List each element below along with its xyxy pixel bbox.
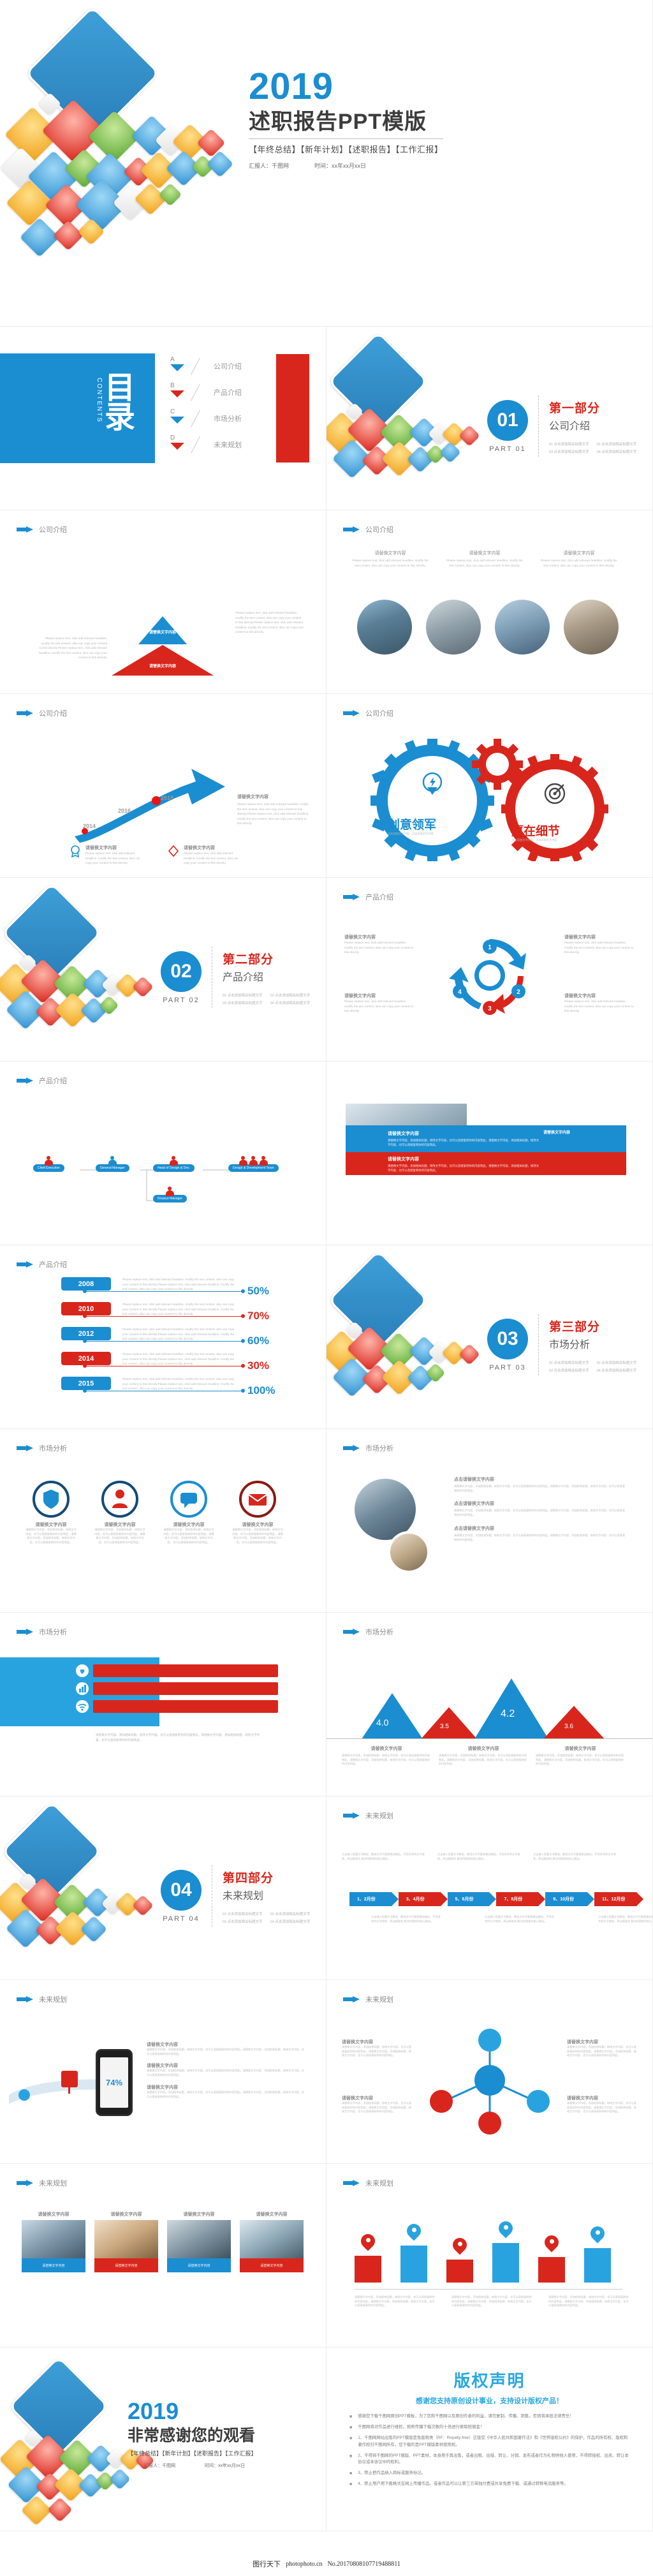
pin-row — [355, 2221, 611, 2283]
part-item: 03 点击添加相关标题文字 — [223, 1000, 263, 1005]
copyright-item: ■3、禁止把作品纳入商标或服务标记。 — [349, 2470, 629, 2477]
photo-thumbnail — [564, 600, 619, 655]
part-divider — [538, 396, 539, 457]
part-mosaic — [326, 343, 505, 496]
slide-part-03: 03 PART 03 第三部分 市场分析 01 点击添加相关标题文字 02 点击… — [326, 1245, 653, 1429]
watermark-site-cn: 图行天下 — [253, 2559, 281, 2569]
part-mosaic — [326, 1261, 505, 1414]
heart-circle-icon — [75, 1664, 89, 1678]
triangle-value: 3.6 — [564, 1723, 573, 1730]
photo-caption: 请替换文字内容 — [352, 550, 429, 556]
growth-note: 请替换文字内容 Please replace text, click add r… — [237, 794, 311, 826]
chat-ring-icon — [170, 1480, 208, 1518]
final-meta: 汇报人：千图网 时间：xx年xx月xx日 — [128, 2462, 319, 2469]
part-label: PART 02 — [163, 996, 199, 1004]
timeline-text: Please replace text, click add relevant … — [122, 1302, 237, 1317]
photo-row: 请替换文字内容 Please replace text, click add r… — [352, 550, 617, 568]
timeline-percent: 30% — [247, 1359, 269, 1372]
cover-title: 述职报告PPT模版 — [249, 104, 443, 135]
copyright-item: ■感谢您下载千图网原创PPT模板，为了您和千图网以及原创作者的利益，请勿复制、传… — [349, 2413, 629, 2420]
triangle-value: 4.0 — [376, 1717, 388, 1728]
item-body: 请替换文字内容，添加相关标题，修改文字内容，也可以直接复制你的内容到此。请替换文… — [454, 1509, 626, 1517]
month-arrow: 7、8月份 — [496, 1892, 538, 1906]
slide-copyright: 版权声明 感谢您支持原创设计事业，支持设计版权产品！ ■感谢您下载千图网原创PP… — [326, 2348, 653, 2531]
arrow-icon — [343, 1445, 360, 1452]
part-number: 01 — [487, 400, 528, 441]
timeline-row: 2008 Please replace text, click add rele… — [0, 1277, 326, 1302]
bullet-icon: ■ — [349, 2453, 352, 2466]
slide-photo-cards: 未来规划 请替换文字内容 请替换文字内容 请替换文字内容 请替换文字内容 请替换… — [0, 2164, 326, 2348]
cover-tagline: 【年终总结】【新年计划】【述职报告】【工作汇报】 — [249, 143, 443, 155]
ring-item[interactable]: 请替换文字内容 请替换文字内容，添加相关标题，修改文字内容，也可以直接复制你的内… — [232, 1480, 283, 1545]
slide-phone: 未来规划 74% 请替换文字内容 请替换文字内容，添加相关标题，修改文字内容，也… — [0, 1980, 326, 2164]
toc-slash-icon — [193, 358, 207, 374]
month-note: 点击输入您要文字解说，解说文字尽量是概括概括，不用多余的文字修饰，简洁精准的 解… — [371, 1915, 441, 1923]
cover-date: 时间：xx年xx月xx日 — [314, 161, 366, 170]
part-label: PART 01 — [489, 445, 525, 453]
person-icon — [166, 1187, 174, 1197]
photo-text: Please replace text, click add relevant … — [352, 558, 429, 568]
gear-left-sub: 点击添加文字内容，点击添加文字内容 — [380, 832, 441, 836]
photo-group — [355, 1479, 430, 1573]
bullet-icon: ■ — [349, 2481, 352, 2488]
part-header: 02 PART 02 第二部分 产品介绍 01 点击添加相关标题文字 02 点击… — [161, 947, 310, 1008]
cycle-note-body: Please replace text, click add relevant … — [564, 999, 635, 1014]
org-node: Design & Development Team — [228, 1156, 279, 1172]
toc-slash-icon — [193, 436, 207, 453]
part-item-list: 01 点击添加相关标题文字 02 点击添加相关标题文字 03 点击添加相关标题文… — [549, 1360, 636, 1373]
arrow-icon — [17, 1077, 33, 1084]
section-header-company: 公司介绍 — [17, 524, 67, 535]
toc-item[interactable]: B 产品介绍 — [169, 383, 242, 401]
slide-part-04: 04 PART 04 第四部分 未来规划 01 点击添加相关标题文字 02 点击… — [0, 1796, 326, 1980]
bullet-icon: ■ — [349, 2470, 352, 2477]
network-note: 请替换文字内容 请替换文字内容，添加相关标题，修改文字内容，也可以直接复制你的内… — [342, 2039, 412, 2058]
copyright-title: 版权声明 — [326, 2368, 652, 2392]
cycle-note-head: 请替换文字内容 — [344, 934, 415, 940]
watermark-site-en: photophoto.cn — [286, 2561, 323, 2568]
section-header-label: 公司介绍 — [365, 708, 393, 718]
section-header-future: 未来规划 — [17, 2178, 67, 2188]
chart-circle-icon — [75, 1682, 89, 1696]
growth-icon-label: 请替换文字内容 — [184, 845, 240, 851]
part-item: 04 点击添加相关标题文字 — [270, 1000, 311, 1005]
final-year: 2019 — [128, 2400, 319, 2423]
ring-label: 请替换文字内容 — [94, 1521, 145, 1528]
cover-meta: 汇报人：千图网 时间：xx年xx月xx日 — [249, 161, 443, 170]
month-arrow: 1、2月份 — [349, 1892, 392, 1906]
triangle-value: 4.2 — [501, 1708, 515, 1720]
slide-pin-chart: 未来规划 — [326, 2164, 653, 2348]
timeline-year: 2008 — [61, 1277, 111, 1291]
phone-notes: 请替换文字内容 请替换文字内容，添加相关标题，修改文字内容，也可以直接复制你的内… — [147, 2041, 306, 2099]
pin-item — [400, 2224, 427, 2283]
final-presenter: 汇报人：千图网 — [144, 2462, 175, 2469]
section-header-label: 市场分析 — [39, 1627, 67, 1637]
item-body: 请替换文字内容，添加相关标题，修改文字内容，也可以直接复制你的内容到此。请替换文… — [454, 1534, 626, 1542]
toc-list: A 公司介绍 B 产品介绍 C 市场分析 D 未来规划 — [169, 357, 242, 454]
month-arrow: 11、12月份 — [594, 1892, 636, 1906]
diamond-icon — [167, 845, 180, 857]
list-item: 请替换文字内容 请替换文字内容，添加相关标题，修改文字内容，也可以直接复制你的内… — [147, 2041, 306, 2056]
toc-item[interactable]: C 市场分析 — [169, 410, 242, 427]
part-number: 04 — [161, 1870, 202, 1911]
pin-item — [538, 2235, 565, 2283]
ring-text: 请替换文字内容，添加相关标题，修改文字内容，也可以直接复制你的内容到此。请替换文… — [232, 1528, 283, 1545]
legend-item: 请替换文字内容 请替换文字内容，添加相关标题，修改文字内容，也可以直接复制你的内… — [536, 1745, 625, 1766]
slide-gears: 公司介绍 — [326, 694, 653, 878]
arrow-icon — [343, 894, 360, 901]
timeline-year: 2012 — [61, 1327, 111, 1340]
arrow-icon — [17, 1261, 33, 1268]
slide-grid: 2019 述职报告PPT模版 【年终总结】【新年计划】【述职报告】【工作汇报】 … — [0, 0, 653, 2531]
svg-text:3: 3 — [488, 1005, 492, 1012]
arrow-icon — [17, 1629, 33, 1636]
photo-card[interactable]: 请替换文字内容 请替换文字内容 — [94, 2211, 158, 2272]
part-item: 01 点击添加相关标题文字 — [223, 1911, 263, 1916]
gears-graphic — [356, 734, 624, 861]
cycle-note-head: 请替换文字内容 — [344, 993, 415, 999]
section-header-future: 未来规划 — [343, 1994, 393, 2004]
ring-item[interactable]: 请替换文字内容 请替换文字内容，添加相关标题，修改文字内容，也可以直接复制你的内… — [163, 1480, 214, 1545]
timeline-text: Please replace text, click add relevant … — [122, 1277, 237, 1292]
pyramid-right-text: Please replace text, click add relevant … — [235, 611, 304, 635]
section-header-label: 公司介绍 — [39, 708, 67, 718]
copyright-block: 版权声明 感谢您支持原创设计事业，支持设计版权产品！ ■感谢您下载千图网原创PP… — [326, 2348, 652, 2488]
percent-timeline-chart: 2008 Please replace text, click add rele… — [0, 1277, 326, 1402]
photo-card-row: 请替换文字内容 请替换文字内容 请替换文字内容 请替换文字内容 请替换文字内容 … — [22, 2211, 304, 2272]
section-header-company: 公司介绍 — [343, 708, 393, 718]
growth-arrow-icon — [61, 761, 252, 844]
part-label: PART 04 — [163, 1915, 199, 1923]
pin-legend: 请替换文字内容，添加相关标题，修改文字内容，也可以直接复制你的内容到此。请替换文… — [355, 2295, 630, 2308]
part-title: 第二部分 — [223, 950, 310, 967]
mail-ring-icon — [238, 1480, 277, 1518]
triangle-legend: 请替换文字内容 请替换文字内容，添加相关标题，修改文字内容，也可以直接复制你的内… — [342, 1745, 625, 1766]
ring-text: 请替换文字内容，添加相关标题，修改文字内容，也可以直接复制你的内容到此。请替换文… — [26, 1528, 77, 1545]
section-header-product: 产品介绍 — [343, 892, 393, 902]
arrow-icon — [17, 526, 33, 533]
growth-icon-text: Please replace text, click add relevant … — [85, 851, 142, 866]
section-header-label: 未来规划 — [365, 1810, 393, 1821]
network-graphic — [420, 2026, 560, 2135]
list-item: 请替换文字内容 请替换文字内容，添加相关标题，修改文字内容，也可以直接复制你的内… — [147, 2062, 306, 2077]
pyramid-graphic: 请替换文字内容 请替换文字内容 — [112, 616, 214, 676]
section-header-label: 产品介绍 — [39, 1076, 67, 1086]
month-arrow: 5、6月份 — [448, 1892, 490, 1906]
slide-photo-circles: 公司介绍 请替换文字内容 Please replace text, click … — [326, 510, 653, 694]
part-label: PART 03 — [489, 1364, 525, 1372]
toc-item[interactable]: A 公司介绍 — [169, 357, 242, 375]
final-tagline: 【年终总结】【新年计划】【述职报告】【工作汇报】 — [128, 2449, 319, 2457]
timeline-text: Please replace text, click add relevant … — [122, 1377, 237, 1391]
toc-marker-b-icon: B — [169, 383, 187, 401]
photo-caption: 请替换文字内容 — [541, 550, 617, 556]
arrow-icon — [17, 2180, 33, 2187]
map-pin-icon — [591, 2226, 605, 2246]
toc-slash-icon — [193, 384, 207, 401]
toc-marker-c-icon: C — [169, 410, 187, 427]
section-header-label: 公司介绍 — [39, 524, 67, 535]
timeline-year: 2015 — [61, 1377, 111, 1390]
person-icon — [239, 1156, 247, 1166]
section-header-market: 市场分析 — [17, 1443, 67, 1453]
month-bottom-notes: 点击输入您要文字解说，解说文字尽量是概括概括，不用多余的文字修饰，简洁精准的 解… — [371, 1915, 653, 1923]
band-side-note: 请替换文字内容 — [543, 1129, 620, 1135]
part-subtitle: 未来规划 — [223, 1887, 310, 1902]
part-divider — [538, 1314, 539, 1375]
list-item: 点击请替换文字内容 请替换文字内容，添加相关标题，修改文字内容，也可以直接复制你… — [454, 1476, 626, 1493]
month-arrow: 3、4月份 — [399, 1892, 441, 1906]
part-item: 04 点击添加相关标题文字 — [270, 1919, 311, 1924]
part-item-list: 01 点击添加相关标题文字 02 点击添加相关标题文字 03 点击添加相关标题文… — [223, 1911, 310, 1924]
photo-thumbnail — [426, 600, 481, 655]
bullet-icon: ■ — [349, 2435, 352, 2448]
photo-text: Please replace text, click add relevant … — [446, 558, 523, 568]
section-header-future: 未来规划 — [343, 2178, 393, 2188]
pin-item — [492, 2221, 519, 2283]
month-note: 点击输入您要文字解说，解说文字尽量是概括概括，不用多余的文字修饰，简洁精准的 解… — [533, 1853, 616, 1861]
timeline-year: 2014 — [61, 1352, 111, 1365]
map-pin-icon — [361, 2234, 375, 2253]
cover-mosaic — [6, 19, 287, 293]
photo-card[interactable]: 请替换文字内容 请替换文字内容 — [240, 2211, 304, 2272]
photo-thumbnail — [357, 600, 412, 655]
toc-item[interactable]: D 未来规划 — [169, 436, 242, 454]
map-pin-icon — [453, 2238, 467, 2257]
arrow-icon — [343, 1629, 360, 1636]
ring-text: 请替换文字内容，添加相关标题，修改文字内容，也可以直接复制你的内容到此。请替换文… — [94, 1528, 145, 1545]
gear-blue-icon — [371, 739, 494, 861]
cover-presenter: 汇报人：千图网 — [249, 161, 289, 170]
section-header-product: 产品介绍 — [17, 1259, 67, 1269]
gear-red-icon — [501, 754, 608, 861]
part-divider — [212, 947, 212, 1008]
toc-marker-a-icon: A — [169, 357, 187, 375]
part-subtitle: 市场分析 — [549, 1336, 636, 1351]
section-header-company: 公司介绍 — [343, 524, 393, 535]
part-subtitle: 公司介绍 — [549, 417, 636, 433]
arrow-icon — [17, 1996, 33, 2003]
part-header: 04 PART 04 第四部分 未来规划 01 点击添加相关标题文字 02 点击… — [161, 1865, 310, 1927]
photo-caption: 请替换文字内容 — [446, 550, 523, 556]
person-icon — [45, 1156, 53, 1166]
part-item: 03 点击添加相关标题文字 — [549, 449, 589, 454]
person-icon — [249, 1156, 258, 1166]
section-header-future: 未来规划 — [343, 1810, 393, 1821]
gear-right-sub: 点击添加文字内容，点击添加文字内容 — [504, 838, 565, 843]
copyright-item: ■1、千图网网站出售的PPT模版是免版税类（RF：Royalty-free）正版… — [349, 2435, 629, 2448]
slide-pyramid: 公司介绍 请替换文字内容 请替换文字内容 Please replace text… — [0, 510, 326, 694]
ring-label: 请替换文字内容 — [26, 1521, 77, 1528]
org-node: Chief Executive — [33, 1156, 64, 1172]
timeline-percent: 60% — [247, 1335, 269, 1347]
watermark-footer: 图行天下 photophoto.cn No.201708081077194888… — [0, 2552, 653, 2576]
section-header-label: 产品介绍 — [365, 892, 393, 902]
section-header-label: 未来规划 — [365, 2178, 393, 2188]
cycle-note-head: 请替换文字内容 — [564, 934, 635, 940]
cover-title-block: 2019 述职报告PPT模版 【年终总结】【新年计划】【述职报告】【工作汇报】 … — [249, 69, 443, 170]
pin-item — [355, 2234, 381, 2283]
growth-icon-text: Please replace text, click add relevant … — [184, 851, 240, 866]
part-item: 02 点击添加相关标题文字 — [597, 441, 637, 447]
part-item: 01 点击添加相关标题文字 — [223, 993, 263, 998]
timeline-year: 2010 — [61, 1302, 111, 1315]
part-mosaic — [0, 1812, 179, 1965]
growth-year: 2014 — [83, 823, 96, 829]
org-node: Finance Manager — [153, 1187, 187, 1203]
part-item: 04 点击添加相关标题文字 — [597, 449, 637, 454]
chart-axis — [326, 1738, 653, 1739]
banner-row — [75, 1682, 278, 1696]
section-header-label: 未来规划 — [39, 1994, 67, 2004]
legend-item: 请替换文字内容 请替换文字内容，添加相关标题，修改文字内容，也可以直接复制你的内… — [342, 1745, 431, 1766]
person-icon — [108, 1156, 117, 1166]
band-caption-body: 请替换文字内容，添加相关标题，修改文字内容，也可以直接复制你的内容到此。请替换文… — [388, 1138, 541, 1147]
photo-card[interactable]: 请替换文字内容 请替换文字内容 — [167, 2211, 231, 2272]
final-date: 时间：xx年xx月xx日 — [205, 2462, 245, 2469]
slide-photo-band: 请替换文字内容 请替换文字内容，添加相关标题，修改文字内容，也可以直接复制你的内… — [326, 1062, 653, 1245]
gear-left-title: 创意领军 — [388, 815, 436, 833]
slide-final: 2019 非常感谢您的观看 【年终总结】【新年计划】【述职报告】【工作汇报】 汇… — [0, 2348, 326, 2531]
photo-circle-row — [357, 600, 619, 655]
growth-icons-row: 请替换文字内容Please replace text, click add re… — [69, 845, 240, 866]
network-note: 请替换文字内容 请替换文字内容，添加相关标题，修改文字内容，也可以直接复制你的内… — [567, 2039, 637, 2058]
slide-cover: 2019 述职报告PPT模版 【年终总结】【新年计划】【述职报告】【工作汇报】 … — [0, 0, 653, 327]
ring-item[interactable]: 请替换文字内容 请替换文字内容，添加相关标题，修改文字内容，也可以直接复制你的内… — [94, 1480, 145, 1545]
final-title: 非常感谢您的观看 — [128, 2423, 319, 2446]
month-top-notes: 点击输入您要文字解说，解说文字尽量是概括概括，不用多余的文字修饰，简洁精准的 解… — [342, 1853, 616, 1861]
phone-mockup: 74% — [96, 2049, 133, 2116]
part-item: 01 点击添加相关标题文字 — [549, 1360, 589, 1365]
banner-note: 请替换文字内容，添加相关标题，修改文字内容，也可以直接复制你的内容到此。请替换文… — [96, 1733, 261, 1742]
cover-year: 2019 — [249, 69, 443, 104]
slide-photo-three: 市场分析 点击请替换文字内容 请替换文字内容，添加相关标题，修改文字内容，也可以… — [326, 1429, 653, 1613]
toc-label: 公司介绍 — [214, 361, 242, 371]
photo-thumbnail — [495, 600, 550, 655]
org-chart-graphic: Chief Executive General Manager Head of … — [0, 1106, 326, 1215]
slide-triangle-chart: 市场分析 4.0 3.5 4.2 3.6 请替换文字内容 请替换文字内容，添加相… — [326, 1613, 653, 1796]
band-caption-head: 请替换文字内容 — [388, 1156, 541, 1162]
pin-axis — [355, 2289, 622, 2290]
part-item: 02 点击添加相关标题文字 — [270, 1911, 311, 1916]
part-number: 02 — [161, 951, 202, 992]
toc-marker-d-icon: D — [169, 436, 187, 454]
part-header: 01 PART 01 第一部分 公司介绍 01 点击添加相关标题文字 02 点击… — [487, 396, 636, 457]
org-node: Head of Design & Dev. — [153, 1156, 194, 1172]
map-pin-icon — [545, 2235, 559, 2254]
cycle-note-body: Please replace text, click add relevant … — [344, 940, 415, 955]
section-header-future: 未来规划 — [17, 1994, 67, 2004]
slide-month-arrows: 未来规划 点击输入您要文字解说，解说文字尽量是概括概括，不用多余的文字修饰，简洁… — [326, 1796, 653, 1980]
ring-item[interactable]: 请替换文字内容 请替换文字内容，添加相关标题，修改文字内容，也可以直接复制你的内… — [26, 1480, 77, 1545]
part-title: 第一部分 — [549, 399, 636, 416]
arrow-icon — [343, 2180, 360, 2187]
watermark-number: No.20170808107719488811 — [328, 2561, 400, 2568]
copyright-list: ■感谢您下载千图网原创PPT模板，为了您和千图网以及原创作者的利益，请勿复制、传… — [326, 2413, 652, 2488]
slide-part-01: 01 PART 01 第一部分 公司介绍 01 点击添加相关标题文字 02 点击… — [326, 327, 653, 510]
cover-divider — [249, 138, 443, 139]
map-pin-icon — [499, 2221, 513, 2240]
triangle-chart: 4.0 3.5 4.2 3.6 — [326, 1650, 653, 1739]
section-header-market: 市场分析 — [17, 1627, 67, 1637]
timeline-percent: 100% — [247, 1384, 275, 1397]
bullet-icon: ■ — [349, 2424, 352, 2431]
part-item: 01 点击添加相关标题文字 — [549, 441, 589, 447]
cycle-note-head: 请替换文字内容 — [564, 993, 635, 999]
band-caption-head: 请替换文字内容 — [388, 1130, 541, 1137]
slide-part-02: 02 PART 02 第二部分 产品介绍 01 点击添加相关标题文字 02 点击… — [0, 878, 326, 1062]
badge-icon — [69, 845, 82, 857]
photo-card[interactable]: 请替换文字内容 请替换文字内容 — [22, 2211, 85, 2272]
copyright-item: ■千图网将对作品进行维权，按照传播下载次数的十倍进行索取赔偿金！ — [349, 2424, 629, 2431]
ring-text: 请替换文字内容，添加相关标题，修改文字内容，也可以直接复制你的内容到此。请替换文… — [163, 1528, 214, 1545]
item-head: 点击请替换文字内容 — [454, 1500, 626, 1507]
toc-label: 市场分析 — [214, 413, 242, 424]
contents-panel: CONTENTS 目录 — [0, 353, 155, 463]
wifi-circle-icon — [75, 1699, 89, 1714]
part-number: 03 — [487, 1319, 528, 1359]
band-caption2: 请替换文字内容 请替换文字内容，添加相关标题，修改文字内容，也可以直接复制你的内… — [388, 1156, 541, 1173]
slide-banner-bars: 市场分析 请替换文字内容，添加相关标题，修改文字内容，也可以直接复制你的内容到此… — [0, 1613, 326, 1796]
network-note: 请替换文字内容 请替换文字内容，添加相关标题，修改文字内容，也可以直接复制你的内… — [342, 2095, 412, 2114]
cycle-note: 请替换文字内容 Please replace text, click add r… — [564, 934, 635, 955]
copyright-item: ■4、禁止用户用下载格式在网上传播作品。或者作品可以让第三方单独付费或共享免费下… — [349, 2481, 629, 2488]
triangle-value: 3.5 — [440, 1723, 449, 1730]
contents-heading: CONTENTS 目录 — [96, 371, 138, 430]
legend-item: 请替换文字内容 请替换文字内容，添加相关标题，修改文字内容，也可以直接复制你的内… — [439, 1745, 528, 1766]
org-node: General Manager — [96, 1156, 129, 1172]
part-item-list: 01 点击添加相关标题文字 02 点击添加相关标题文字 03 点击添加相关标题文… — [549, 441, 636, 454]
cycle-graphic: 1 2 3 4 — [442, 928, 538, 1023]
section-header-label: 未来规划 — [39, 2178, 67, 2188]
section-header-label: 市场分析 — [365, 1627, 393, 1637]
slide-circle-network: 未来规划 请替换文字内容 请替换文字内容，添加相关标题，修改文字内容，也可以直接… — [326, 1980, 653, 2164]
gear-small-icon — [472, 739, 523, 790]
part-item: 02 点击添加相关标题文字 — [270, 993, 311, 998]
pin-item — [446, 2238, 473, 2283]
item-head: 点击请替换文字内容 — [454, 1476, 626, 1483]
toc-slash-icon — [193, 410, 207, 427]
section-header-company: 公司介绍 — [17, 708, 67, 718]
part-divider — [212, 1865, 212, 1927]
arrow-icon — [343, 1996, 360, 2003]
section-header-market: 市场分析 — [343, 1443, 393, 1453]
banner-row — [75, 1664, 278, 1678]
part-item: 03 点击添加相关标题文字 — [223, 1919, 263, 1924]
pyramid-left-text: Please replace text, click add relevant … — [38, 636, 107, 660]
svg-text:4: 4 — [458, 989, 462, 996]
part-title: 第四部分 — [223, 1869, 310, 1886]
part-item: 03 点击添加相关标题文字 — [549, 1368, 589, 1373]
part-subtitle: 产品介绍 — [223, 968, 310, 984]
part-mosaic — [0, 894, 179, 1047]
pin-item — [584, 2226, 611, 2283]
timeline-text: Please replace text, click add relevant … — [122, 1352, 237, 1366]
svg-text:1: 1 — [488, 944, 492, 951]
gear-right-title: 赢在细节 — [511, 822, 560, 839]
pyramid-bottom-label: 请替换文字内容 — [112, 663, 214, 669]
svg-text:2: 2 — [517, 989, 520, 996]
photo-thumbnail — [388, 1531, 430, 1573]
growth-note-body: Please replace text, click add relevant … — [237, 802, 311, 826]
list-item: 点击请替换文字内容 请替换文字内容，添加相关标题，修改文字内容，也可以直接复制你… — [454, 1525, 626, 1542]
growth-note-head: 请替换文字内容 — [237, 794, 311, 800]
item-head: 点击请替换文字内容 — [454, 1525, 626, 1532]
month-note: 点击输入您要文字解说，解说文字尽量是概括概括，不用多余的文字修饰，简洁精准的 解… — [598, 1915, 653, 1923]
part-title: 第三部分 — [549, 1317, 636, 1335]
contents-heading-cn: 目录 — [94, 371, 138, 430]
